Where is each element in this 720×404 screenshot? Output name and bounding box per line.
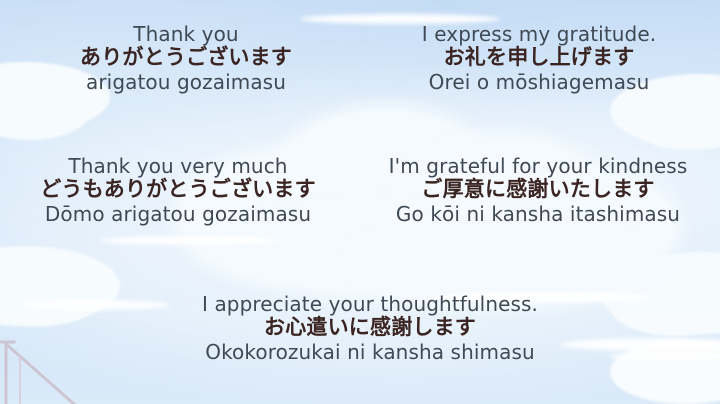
phrase-english: I appreciate your thoughtfulness. bbox=[150, 294, 590, 314]
phrase-block-1: Thank you ありがとうございます arigatou gozaimasu bbox=[0, 24, 372, 92]
phrase-romaji: Dōmo arigatou gozaimasu bbox=[0, 204, 356, 224]
phrase-japanese: お心遣いに感謝します bbox=[150, 317, 590, 338]
phrase-block-5: I appreciate your thoughtfulness. お心遣いに感… bbox=[150, 294, 590, 362]
phrase-english: I express my gratitude. bbox=[358, 24, 720, 44]
phrase-block-2: I express my gratitude. お礼を申し上げます Orei o… bbox=[358, 24, 720, 92]
bridge-truss-structure bbox=[0, 334, 120, 404]
phrase-english: Thank you very much bbox=[0, 156, 356, 176]
cloud-wisp bbox=[100, 236, 280, 245]
phrase-romaji: Go kōi ni kansha itashimasu bbox=[356, 204, 720, 224]
phrase-romaji: arigatou gozaimasu bbox=[0, 72, 372, 92]
phrase-block-4: I'm grateful for your kindness ご厚意に感謝いたし… bbox=[356, 156, 720, 224]
phrase-english: Thank you bbox=[0, 24, 372, 44]
phrase-english: I'm grateful for your kindness bbox=[356, 156, 720, 176]
phrase-japanese: ご厚意に感謝いたします bbox=[356, 179, 720, 200]
slide-canvas: Thank you ありがとうございます arigatou gozaimasu … bbox=[0, 0, 720, 404]
phrase-japanese: どうもありがとうございます bbox=[0, 179, 356, 200]
phrase-romaji: Orei o mōshiagemasu bbox=[358, 72, 720, 92]
phrase-block-3: Thank you very much どうもありがとうございます Dōmo a… bbox=[0, 156, 356, 224]
phrase-japanese: お礼を申し上げます bbox=[358, 47, 720, 68]
phrase-japanese: ありがとうございます bbox=[0, 47, 372, 68]
phrase-romaji: Okokorozukai ni kansha shimasu bbox=[150, 342, 590, 362]
